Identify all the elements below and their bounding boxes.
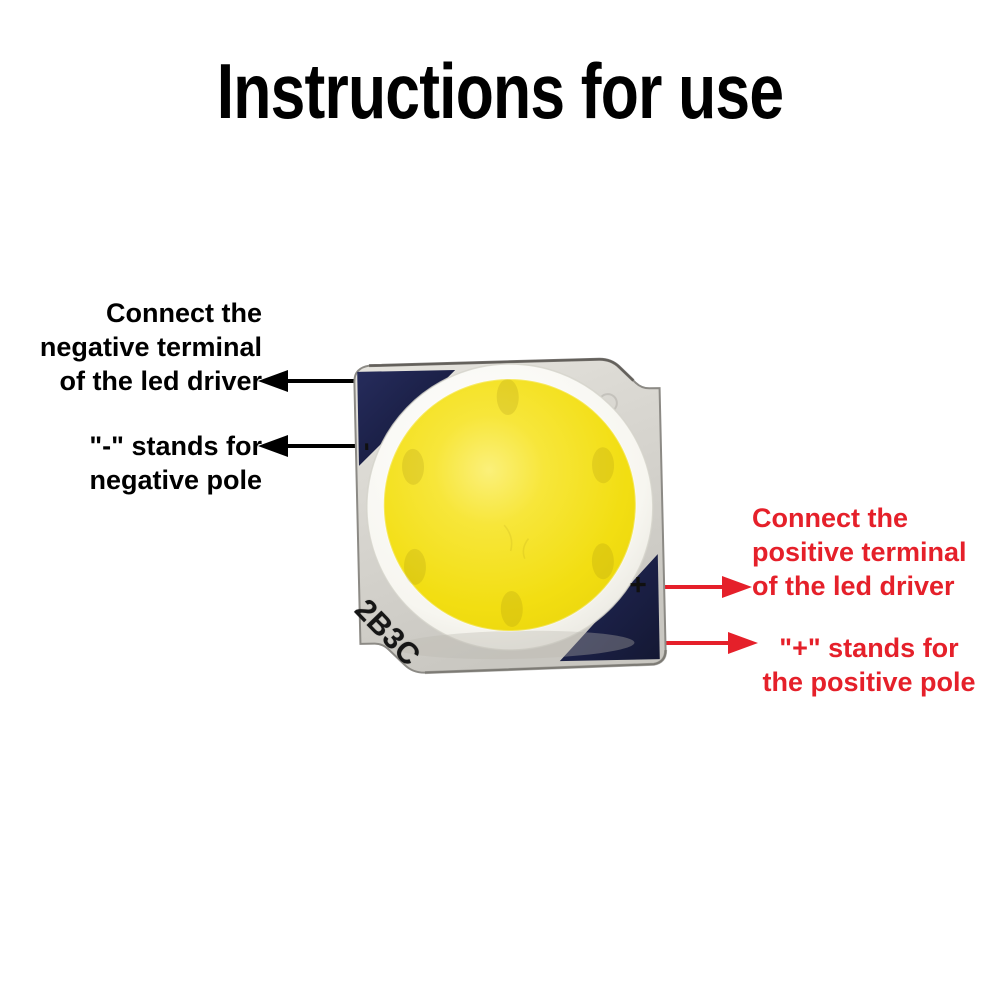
negative-polarity-mark: -: [356, 442, 382, 451]
led-cob-chip: 2B3C - +: [349, 354, 671, 678]
arrow-head: [722, 576, 752, 598]
annotation-positive-driver: Connect the positive terminal of the led…: [752, 501, 1000, 603]
annotation-line: negative pole: [0, 463, 262, 497]
annotation-line: of the led driver: [0, 364, 262, 398]
annotation-line: Connect the: [0, 296, 262, 330]
annotation-positive-pole: "+" stands for the positive pole: [740, 631, 998, 699]
annotation-line: positive terminal: [752, 535, 1000, 569]
annotation-negative-pole: "-" stands for negative pole: [0, 429, 262, 497]
page-title: Instructions for use: [100, 52, 900, 130]
positive-polarity-mark: +: [629, 570, 647, 600]
instruction-image: Instructions for use Connect the negativ…: [0, 0, 1000, 1000]
annotation-line: negative terminal: [0, 330, 262, 364]
arrow-head: [728, 632, 758, 654]
annotation-line: "-" stands for: [0, 429, 262, 463]
arrow-head: [258, 370, 288, 392]
annotation-line: of the led driver: [752, 569, 1000, 603]
arrow-head: [258, 435, 288, 457]
annotation-negative-driver: Connect the negative terminal of the led…: [0, 296, 262, 398]
annotation-line: the positive pole: [740, 665, 998, 699]
annotation-line: "+" stands for: [740, 631, 998, 665]
annotation-line: Connect the: [752, 501, 1000, 535]
